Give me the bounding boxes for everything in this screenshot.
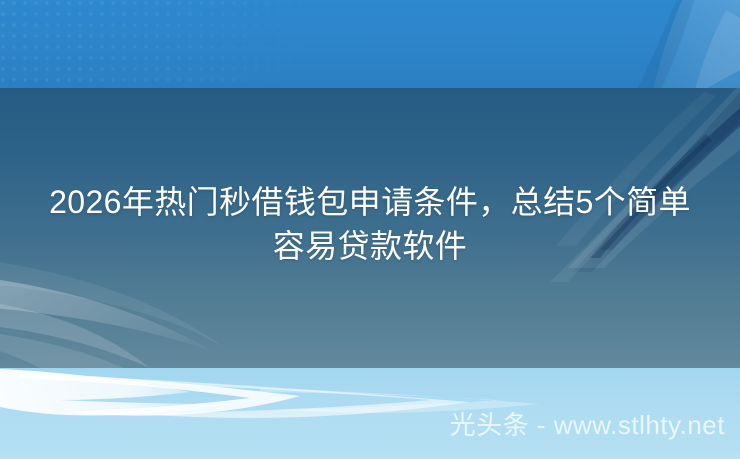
background-band-top [0, 0, 740, 88]
right-ribbons-top-icon [636, 0, 740, 120]
site-watermark: 光头条 - www.stlhty.net [0, 406, 725, 444]
page-title: 2026年热门秒借钱包申请条件，总结5个简单容易贷款软件 [36, 180, 704, 268]
left-swooshes-icon [0, 258, 228, 368]
title-container: 2026年热门秒借钱包申请条件，总结5个简单容易贷款软件 [36, 180, 704, 268]
dot-grid-texture-icon [0, 0, 330, 88]
article-banner: 2026年热门秒借钱包申请条件，总结5个简单容易贷款软件 光头条 - www.s… [0, 0, 740, 459]
